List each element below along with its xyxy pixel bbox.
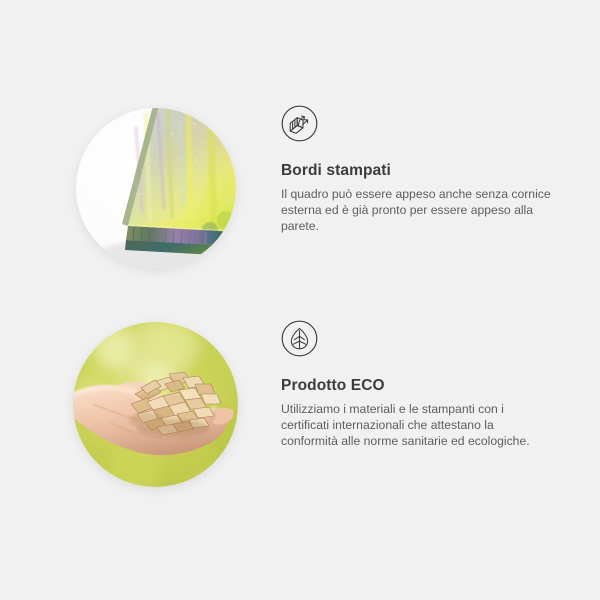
canvas-corner-photo	[76, 108, 236, 268]
feature-description: Utilizziamo i materiali e le stampanti c…	[281, 401, 553, 450]
feature-block-printed-edges: Bordi stampati Il quadro può essere appe…	[0, 105, 600, 275]
feature-title: Bordi stampati	[281, 162, 571, 181]
printed-edges-copy: Bordi stampati Il quadro può essere appe…	[281, 105, 571, 234]
hands-holding-wood-chips-photo	[73, 322, 238, 487]
feature-title: Prodotto ECO	[281, 377, 571, 396]
leaf-icon	[281, 320, 318, 357]
eco-product-copy: Prodotto ECO Utilizziamo i materiali e l…	[281, 320, 571, 449]
printed-edges-icon	[281, 105, 318, 142]
feature-description: Il quadro può essere appeso anche senza …	[281, 186, 553, 235]
product-features-panel: Bordi stampati Il quadro può essere appe…	[0, 0, 600, 600]
feature-block-eco-product: Prodotto ECO Utilizziamo i materiali e l…	[0, 320, 600, 495]
